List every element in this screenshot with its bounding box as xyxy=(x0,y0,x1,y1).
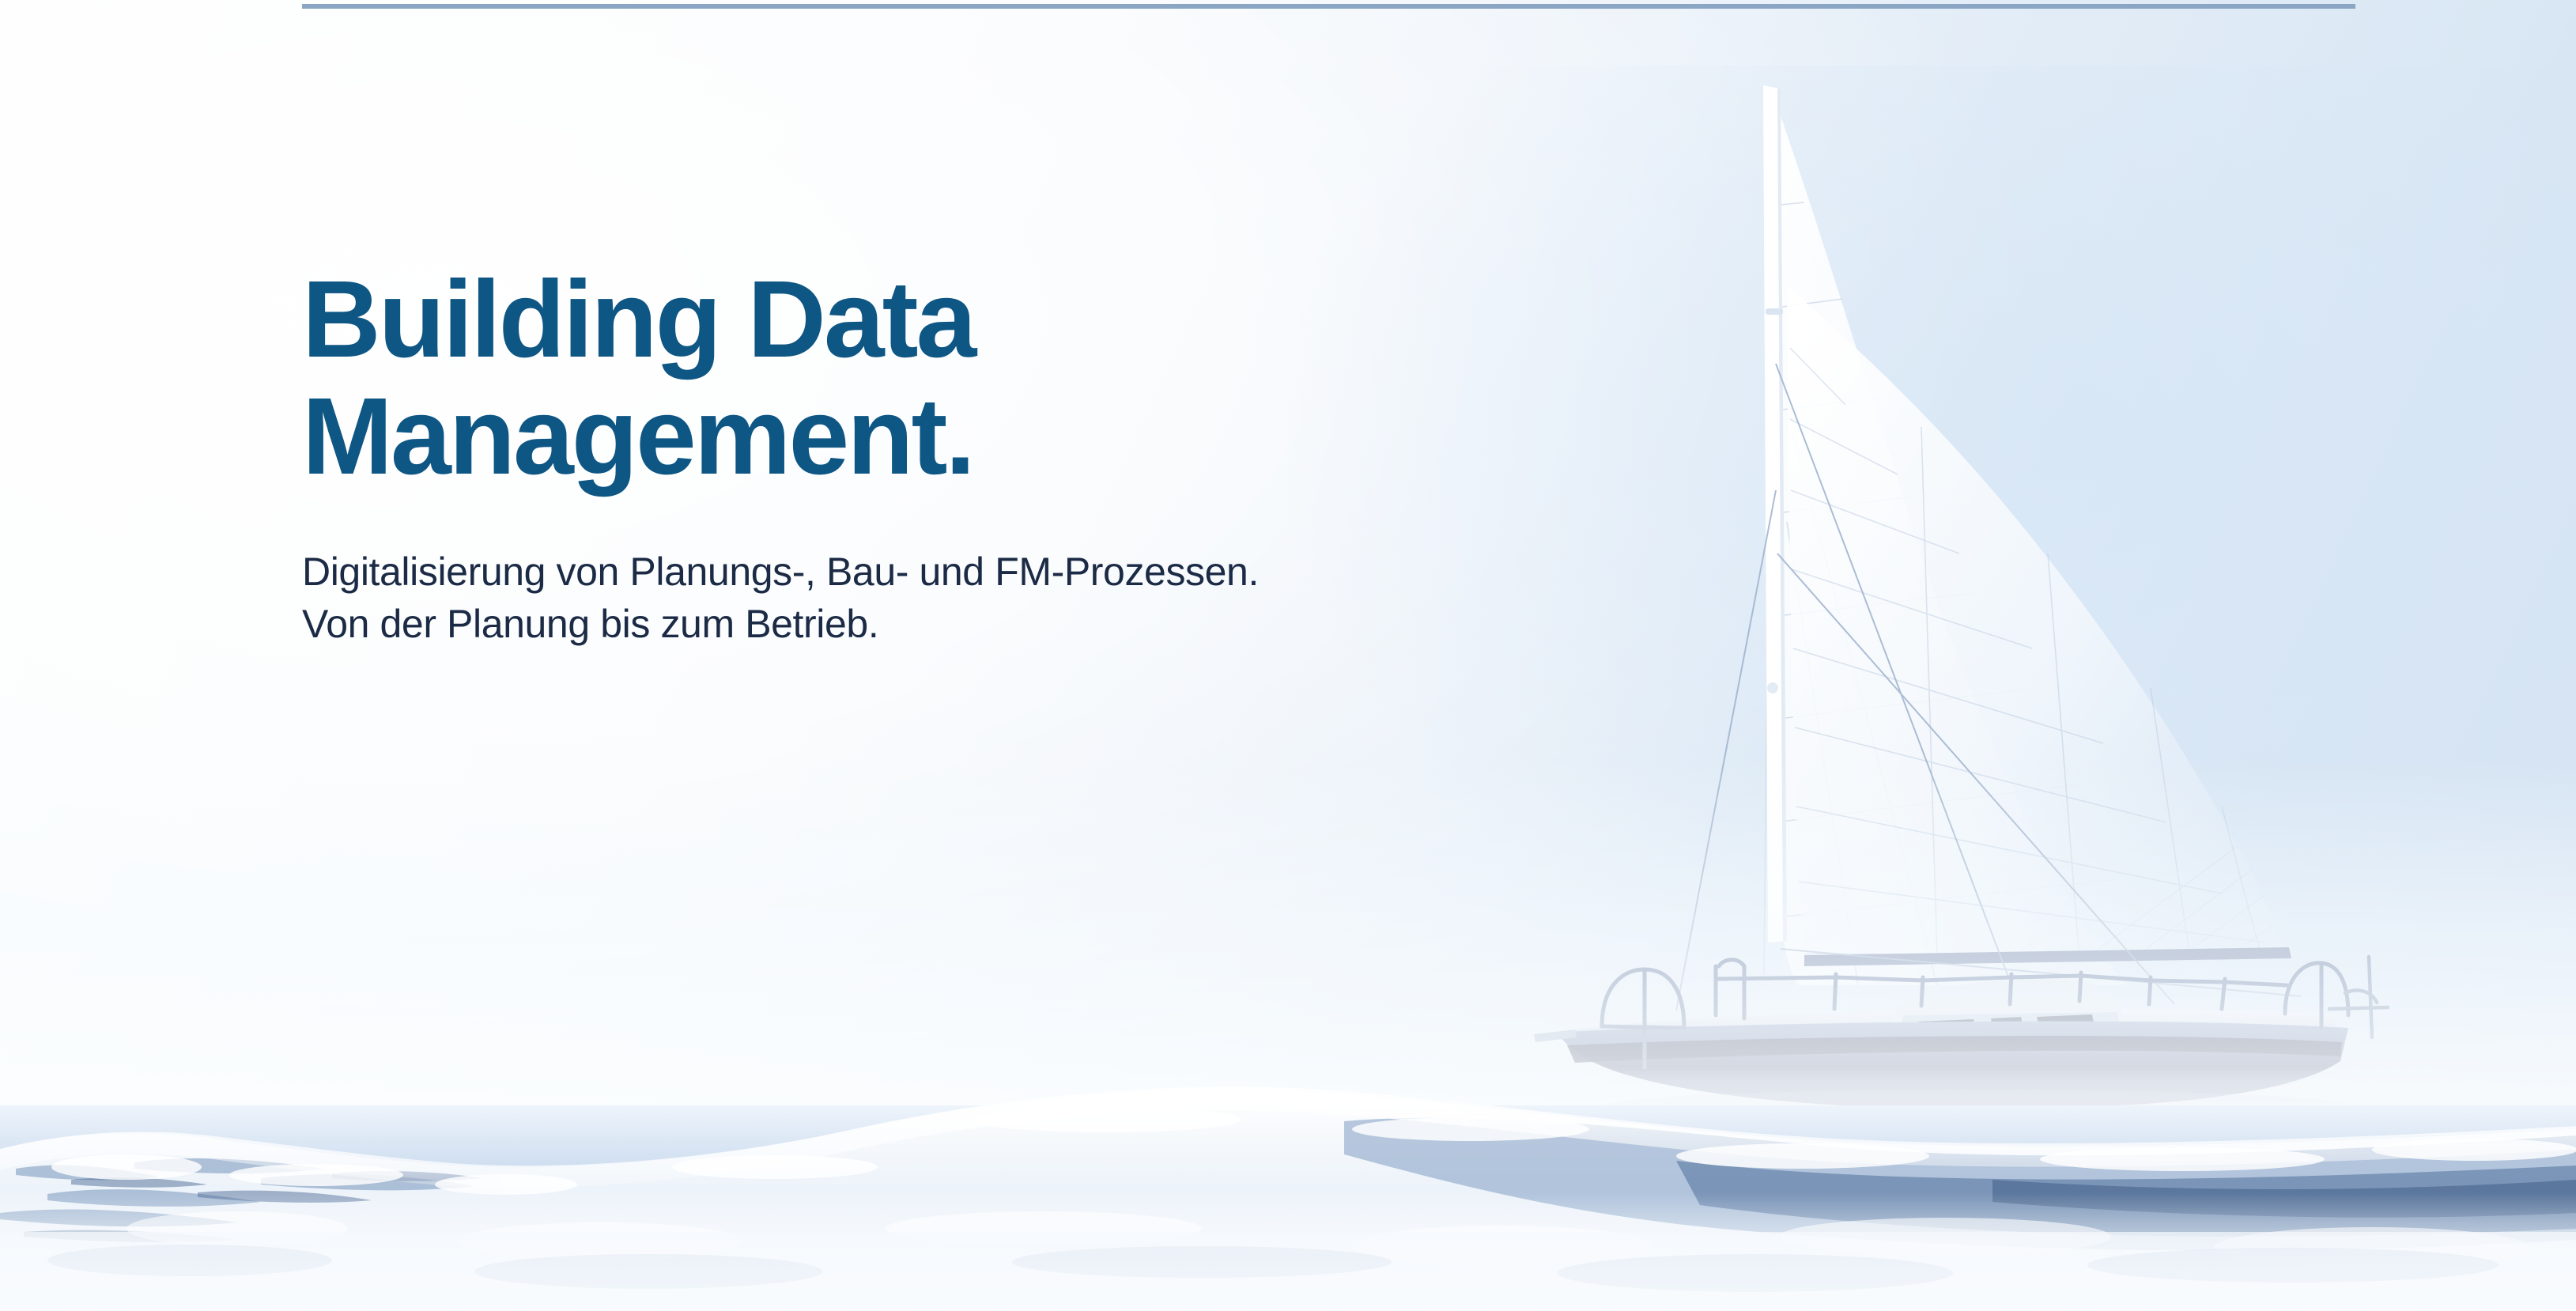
ocean-waves xyxy=(0,1074,2576,1311)
page-subtitle: Digitalisierung von Planungs-, Bau- und … xyxy=(302,495,1488,650)
page-title: Building Data Management. xyxy=(302,261,1488,495)
sailboat-icon xyxy=(1526,47,2396,1107)
horizon-haze xyxy=(0,759,2576,1123)
hero-section: Building Data Management. Digitalisierun… xyxy=(0,0,2576,1311)
top-divider-rule xyxy=(302,4,2355,9)
hero-copy: Building Data Management. Digitalisierun… xyxy=(302,261,1488,650)
